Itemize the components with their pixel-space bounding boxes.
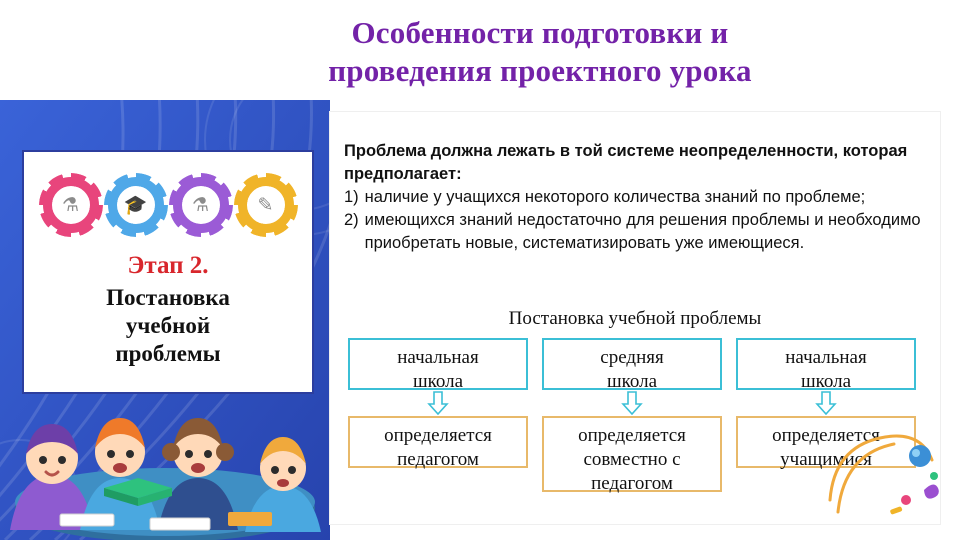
flow-bottom-box-2-line1: определяется xyxy=(548,424,716,448)
flow-bottom-box-2-line3: педагогом xyxy=(548,472,716,496)
list-item-text: наличие у учащихся некоторого количества… xyxy=(365,186,932,209)
flow-bottom-box-2-line2: совместно с xyxy=(548,448,716,472)
gear-graduation: 🎓 xyxy=(108,177,164,233)
problem-statement: Проблема должна лежать в той системе нео… xyxy=(344,140,932,255)
list-item: 2) имеющихся знаний недостаточно для реш… xyxy=(344,209,932,255)
stage-number: Этап 2. xyxy=(24,252,312,280)
flow-bottom-box-1: определяется педагогом xyxy=(348,416,528,468)
flow-top-box-1-line1: начальная xyxy=(354,346,522,370)
stage-card: ⚗ 🎓 ⚗ ✎ Этап 2. Постановка учебной пробл… xyxy=(22,150,314,394)
flow-top-box-3-line1: начальная xyxy=(742,346,910,370)
page-title-line1: Особенности подготовки и xyxy=(180,14,900,52)
list-item-text: имеющихся знаний недостаточно для решени… xyxy=(365,209,932,255)
flow-bottom-box-1-line2: педагогом xyxy=(354,448,522,472)
down-arrow-icon xyxy=(427,391,449,415)
problem-lead: Проблема должна лежать в той системе нео… xyxy=(344,140,932,186)
flow-column-2: средняя школа определяется совместно с п… xyxy=(542,338,722,492)
page-title-line2: проведения проектного урока xyxy=(180,52,900,90)
stage-name-line1: Постановка xyxy=(24,284,312,312)
flow-top-box-1: начальная школа xyxy=(348,338,528,390)
list-item: 1) наличие у учащихся некоторого количес… xyxy=(344,186,932,209)
stage-name-line3: проблемы xyxy=(24,340,312,368)
flow-top-box-2-line1: средняя xyxy=(548,346,716,370)
gear-pen: ✎ xyxy=(238,177,294,233)
problem-list: 1) наличие у учащихся некоторого количес… xyxy=(344,186,932,255)
list-item-marker: 2) xyxy=(344,209,359,255)
down-arrow-icon xyxy=(621,391,643,415)
children-illustration xyxy=(0,380,330,540)
flow-bottom-box-2: определяется совместно с педагогом xyxy=(542,416,722,492)
gear-microscope: ⚗ xyxy=(43,177,99,233)
stage-name: Постановка учебной проблемы xyxy=(24,284,312,368)
flow-top-box-2: средняя школа xyxy=(542,338,722,390)
flow-arrow-1 xyxy=(348,390,528,416)
flow-arrow-2 xyxy=(542,390,722,416)
flow-subtitle: Постановка учебной проблемы xyxy=(330,308,940,330)
title-band: Особенности подготовки и проведения прое… xyxy=(0,0,960,100)
flow-column-1: начальная школа определяется педагогом xyxy=(348,338,528,468)
decorative-swirl-icon xyxy=(820,404,940,524)
page-title: Особенности подготовки и проведения прое… xyxy=(180,14,900,90)
flow-bottom-box-1-line1: определяется xyxy=(354,424,522,448)
gear-flask: ⚗ xyxy=(173,177,229,233)
gear-icon-row: ⚗ 🎓 ⚗ ✎ xyxy=(24,166,312,244)
list-item-marker: 1) xyxy=(344,186,359,209)
stage-name-line2: учебной xyxy=(24,312,312,340)
content-card: Проблема должна лежать в той системе нео… xyxy=(330,112,940,524)
flow-top-box-3: начальная школа xyxy=(736,338,916,390)
